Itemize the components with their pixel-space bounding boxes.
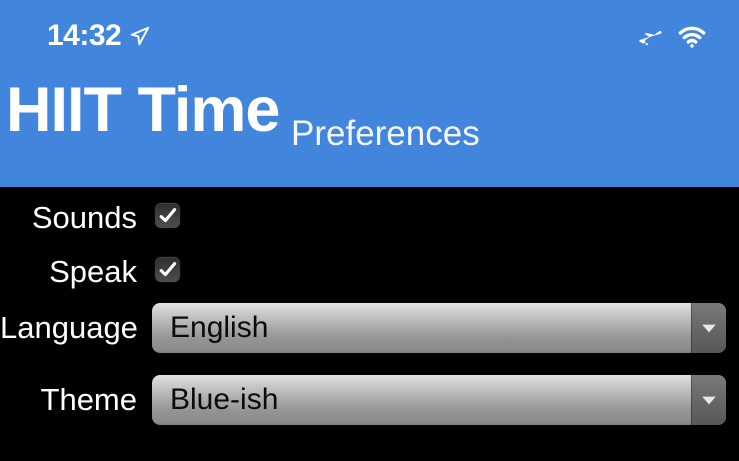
preferences-form: Sounds Speak Language Engl xyxy=(0,187,739,461)
theme-select-arrow-button[interactable] xyxy=(691,375,726,425)
language-select[interactable]: English xyxy=(152,303,726,353)
preference-row-speak: Speak xyxy=(0,252,739,292)
preference-label-language: Language xyxy=(0,310,138,345)
language-select-value: English xyxy=(152,303,691,353)
checkmark-icon xyxy=(158,206,178,226)
status-bar-left-cluster: 14:32 xyxy=(47,21,151,51)
status-bar-clock: 14:32 xyxy=(47,21,121,51)
theme-select-value: Blue-ish xyxy=(152,375,691,425)
preference-label-language-wrap: Language xyxy=(0,311,137,345)
preference-label-theme-wrap: Theme xyxy=(0,383,137,417)
app-title: HIIT Time xyxy=(6,77,279,143)
preference-label-speak-wrap: Speak xyxy=(0,255,137,289)
checkmark-icon xyxy=(158,260,178,280)
theme-select[interactable]: Blue-ish xyxy=(152,375,726,425)
preference-row-language: Language English xyxy=(0,299,739,357)
page-title: Preferences xyxy=(291,115,480,153)
preference-row-theme: Theme Blue-ish xyxy=(0,371,739,429)
sounds-checkbox[interactable] xyxy=(155,203,180,228)
caret-down-icon xyxy=(700,322,718,334)
header-title-row: HIIT Time Preferences xyxy=(0,77,739,187)
preference-label-sounds: Sounds xyxy=(32,200,137,235)
navigation-arrow-icon xyxy=(129,25,151,47)
preference-label-theme: Theme xyxy=(41,382,137,417)
preference-label-speak: Speak xyxy=(49,254,137,289)
language-select-arrow-button[interactable] xyxy=(691,303,726,353)
airplane-mode-icon xyxy=(636,25,664,49)
preference-label-sounds-wrap: Sounds xyxy=(0,201,137,235)
speak-checkbox[interactable] xyxy=(155,257,180,282)
preference-row-sounds: Sounds xyxy=(0,198,739,238)
app-header: 14:32 xyxy=(0,0,739,187)
status-bar-right-cluster xyxy=(636,25,706,49)
wifi-icon xyxy=(678,25,706,49)
status-bar: 14:32 xyxy=(0,0,739,66)
caret-down-icon xyxy=(700,394,718,406)
